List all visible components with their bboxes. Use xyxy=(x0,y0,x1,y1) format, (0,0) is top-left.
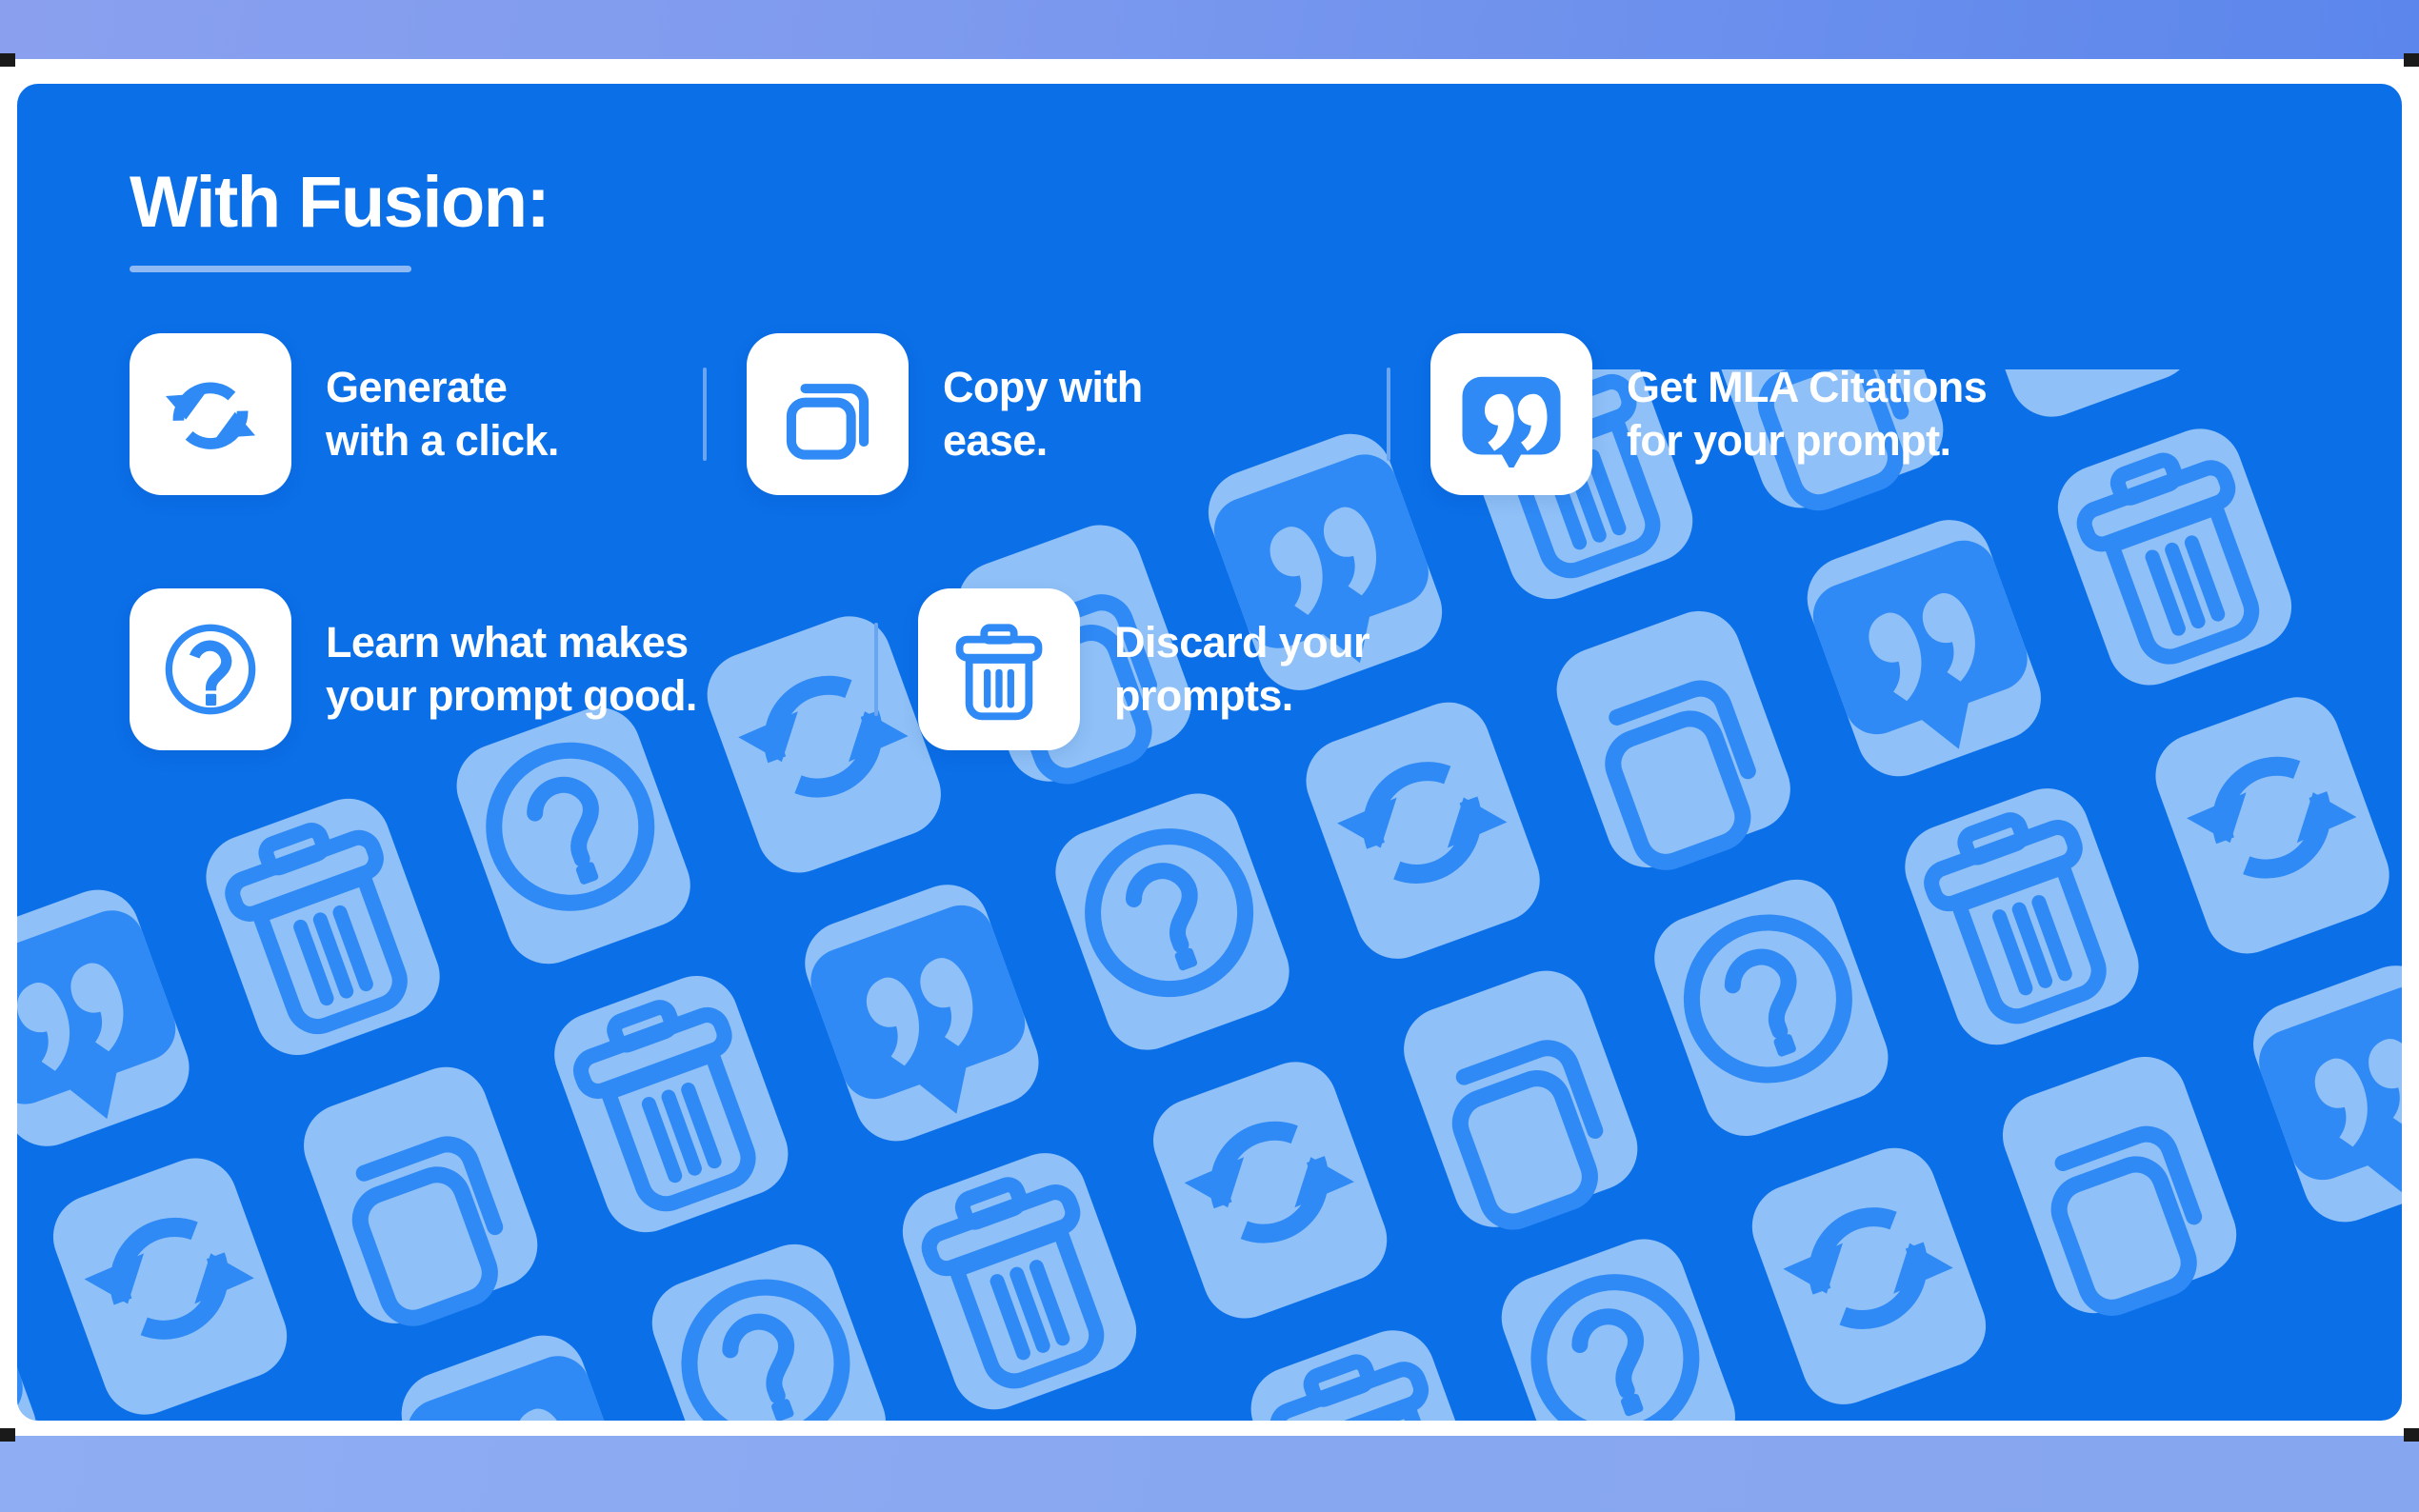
feature-generate[interactable]: Generate with a click. xyxy=(130,333,663,495)
background-pattern xyxy=(17,84,2402,1421)
edge-marker-top-left xyxy=(0,53,15,67)
refresh-sync-icon-tile xyxy=(130,333,291,495)
feature-discard[interactable]: Discard your prompts. xyxy=(918,588,1509,750)
feature-learn-label: Learn what makes your prompt good. xyxy=(326,616,697,723)
edge-marker-bottom-right xyxy=(2404,1428,2419,1442)
feature-mla-citations-label: Get MLA Citations for your prompt. xyxy=(1627,361,1987,468)
feature-copy[interactable]: Copy with ease. xyxy=(747,333,1347,495)
question-mark-circle-icon xyxy=(157,616,264,723)
trash-can-icon-tile xyxy=(918,588,1080,750)
copy-icon-tile xyxy=(747,333,909,495)
quote-bubble-icon-tile xyxy=(1430,333,1592,495)
feature-row-1: Generate with a click. Copy with ease. xyxy=(130,333,2154,495)
copy-icon xyxy=(774,361,881,468)
page-bottom-strip xyxy=(0,1436,2419,1512)
title-underline xyxy=(130,266,411,272)
trash-can-icon xyxy=(946,616,1052,723)
feature-generate-label: Generate with a click. xyxy=(326,361,559,468)
column-divider-2 xyxy=(1387,368,1390,461)
feature-discard-label: Discard your prompts. xyxy=(1114,616,1369,723)
feature-learn[interactable]: Learn what makes your prompt good. xyxy=(130,588,834,750)
heading-block: With Fusion: xyxy=(130,165,549,272)
feature-card: With Fusion: Generate with a click. xyxy=(17,84,2402,1421)
page-root: With Fusion: Generate with a click. xyxy=(0,0,2419,1512)
refresh-sync-icon xyxy=(157,361,264,468)
page-title: With Fusion: xyxy=(130,165,549,241)
column-divider-1 xyxy=(703,368,707,461)
edge-marker-top-right xyxy=(2404,53,2419,67)
page-top-strip xyxy=(0,0,2419,59)
question-mark-circle-icon-tile xyxy=(130,588,291,750)
column-divider-3 xyxy=(874,623,878,716)
quote-bubble-icon xyxy=(1458,361,1565,468)
edge-marker-bottom-left xyxy=(0,1428,15,1442)
feature-row-2: Learn what makes your prompt good. Disca… xyxy=(130,588,1509,750)
feature-mla-citations[interactable]: Get MLA Citations for your prompt. xyxy=(1430,333,2154,495)
feature-copy-label: Copy with ease. xyxy=(943,361,1143,468)
